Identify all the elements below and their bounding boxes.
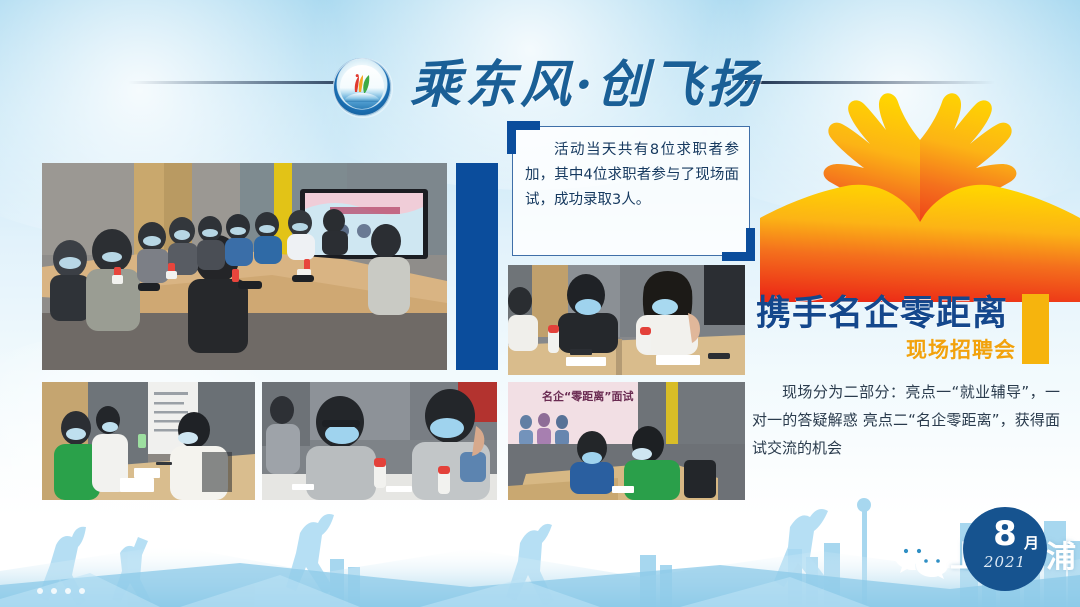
poster-canvas: 乘东风·创飞扬 — [0, 0, 1080, 607]
summary-callout-box: 活动当天共有8位求职者参加，其中4位求职者参与了现场面试，成功录取3人。 — [512, 126, 750, 256]
date-badge-month: 月 — [1024, 535, 1039, 551]
wechat-icon — [893, 538, 949, 580]
photo-consult-desk — [42, 382, 255, 500]
photo-two-applicants-image — [262, 382, 497, 500]
section-subheadline: 现场招聘会 — [906, 337, 1016, 363]
photo-meeting-room — [42, 163, 447, 370]
photo-consult-desk-image — [42, 382, 255, 500]
yellow-accent-bar — [1022, 294, 1049, 364]
svg-text:名企“零距离”面试: 名企“零距离”面试 — [542, 389, 633, 403]
huangpu-emblem-logo — [333, 58, 391, 116]
summary-callout-text: 活动当天共有8位求职者参加，其中4位求职者参与了现场面试，成功录取3人。 — [525, 138, 739, 213]
photo-interview-banner-image: 名企“零距离”面试 — [508, 382, 745, 500]
poster-title: 乘东风·创飞扬 — [410, 48, 750, 122]
date-badge: 8 月 2021 — [963, 507, 1047, 591]
photo-meeting-room-image — [42, 163, 447, 370]
section-headline: 携手名企零距离 — [756, 293, 1008, 335]
blue-accent-bar — [456, 163, 498, 370]
heart-hands-graphic — [760, 62, 1080, 302]
section-paragraph: 现场分为二部分：亮点一“就业辅导”，一对一的答疑解惑 亮点二“名企零距离”，获得… — [752, 378, 1060, 462]
photo-interview-banner: 名企“零距离”面试 — [508, 382, 745, 500]
photo-interview-pair — [508, 265, 745, 375]
date-badge-year: 2021 — [963, 554, 1047, 571]
logo-ring — [333, 58, 393, 118]
photo-two-applicants — [262, 382, 497, 500]
callout-corner-bottom-right — [722, 228, 755, 261]
photo-interview-pair-image — [508, 265, 745, 375]
